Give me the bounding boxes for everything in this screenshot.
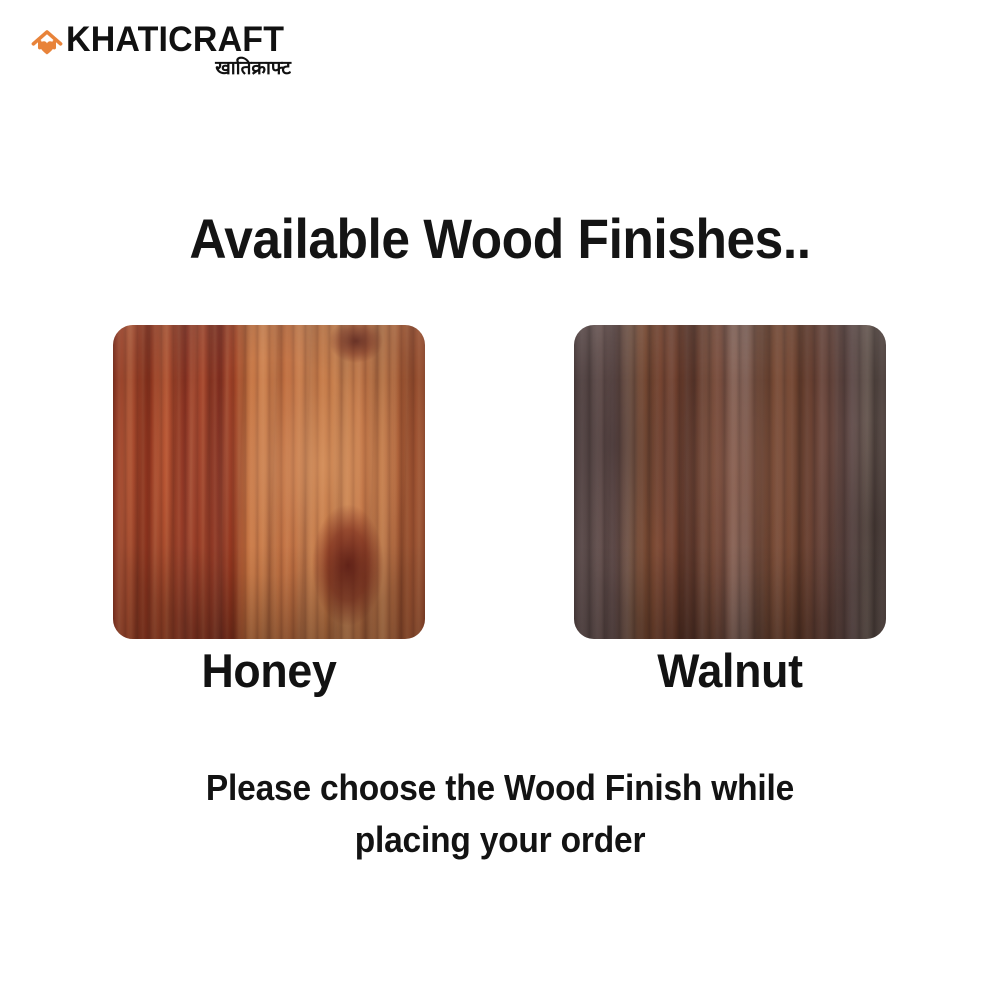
instruction-line-2: placing your order [175, 814, 826, 866]
finish-option-walnut[interactable]: Walnut [574, 325, 886, 698]
honey-label: Honey [121, 643, 417, 698]
finish-swatch-row: Honey Walnut [0, 325, 1000, 705]
wood-finishes-poster: KHATICRAFT खातिक्राफ्ट Available Wood Fi… [0, 0, 1000, 1000]
instruction-line-1: Please choose the Wood Finish while [175, 762, 826, 814]
finish-option-honey[interactable]: Honey [113, 325, 425, 698]
walnut-wood-swatch[interactable] [574, 325, 886, 639]
brand-subtitle-hindi: खातिक्राफ्ट [215, 59, 291, 78]
brand-name: KHATICRAFT [66, 22, 284, 57]
brand-text-block: KHATICRAFT खातिक्राफ्ट [66, 22, 291, 78]
instruction-text: Please choose the Wood Finish while plac… [175, 762, 826, 866]
house-heart-icon [30, 26, 64, 60]
honey-wood-swatch[interactable] [113, 325, 425, 639]
page-title: Available Wood Finishes.. [40, 210, 960, 269]
brand-logo[interactable]: KHATICRAFT खातिक्राफ्ट [30, 22, 291, 78]
walnut-label: Walnut [582, 643, 878, 698]
